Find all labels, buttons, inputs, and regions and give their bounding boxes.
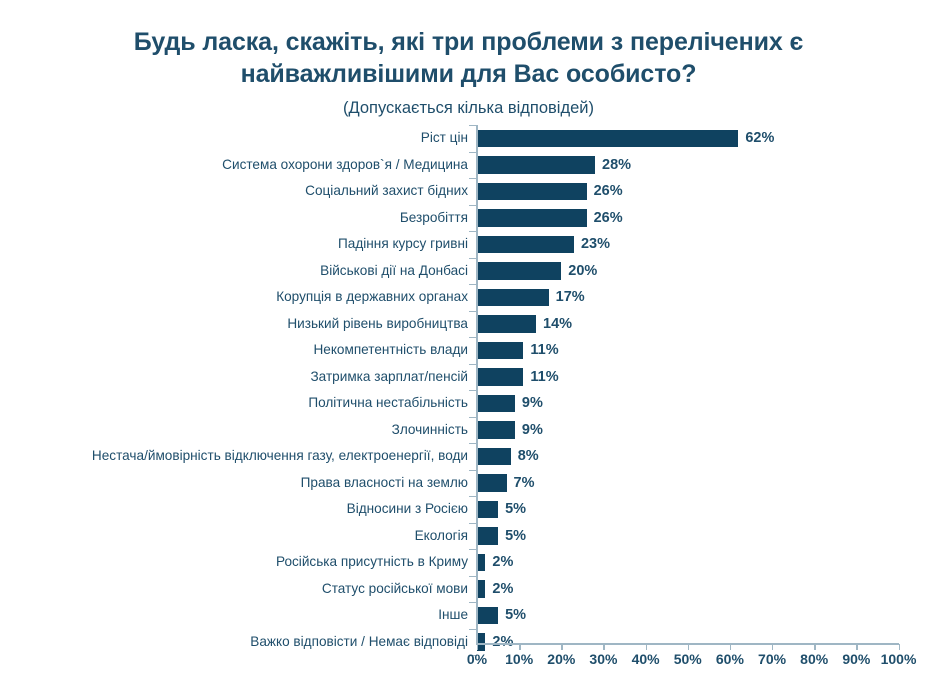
x-axis-tick [561,644,562,650]
value-label: 2% [492,555,513,570]
category-label: Соціальний захист бідних [3,184,468,198]
x-axis-tick [477,644,478,650]
category-label: Падіння курсу гривні [3,237,468,251]
y-axis-tick [469,258,476,259]
value-label: 8% [518,449,539,464]
bar-row: Нестача/ймовірність відключення газу, ел… [0,443,937,470]
value-label: 62% [745,131,774,146]
value-label: 9% [522,396,543,411]
bar-with-value: 11% [477,368,559,386]
bar-row: Інше5% [0,602,937,629]
x-axis-tick [730,644,731,650]
y-axis-tick [469,364,476,365]
category-label: Система охорони здоров`я / Медицина [3,158,468,172]
y-axis-tick [469,311,476,312]
bar-with-value: 2% [477,633,513,651]
category-label: Інше [3,608,468,622]
bar [477,580,485,598]
bar-row: Некомпетентність влади11% [0,337,937,364]
x-axis-tick-label: 30% [589,652,617,666]
bar [477,501,498,519]
y-axis-tick [469,576,476,577]
y-axis-tick [469,125,476,126]
y-axis-tick [469,523,476,524]
y-axis-tick [469,178,476,179]
category-label: Нестача/ймовірність відключення газу, ел… [3,449,468,463]
bar-row: Російська присутність в Криму2% [0,549,937,576]
y-axis-tick [469,629,476,630]
bar-row: Статус російської мови2% [0,576,937,603]
plot-area: Ріст цін62%Система охорони здоров`я / Ме… [0,125,937,643]
bar-with-value: 20% [477,262,597,280]
y-axis-tick [469,390,476,391]
value-label: 14% [543,317,572,332]
bar-with-value: 26% [477,183,623,201]
bar-with-value: 2% [477,554,513,572]
value-label: 28% [602,158,631,173]
category-label: Статус російської мови [3,582,468,596]
bar-with-value: 5% [477,607,526,625]
x-axis-tick-label: 70% [758,652,786,666]
bar-with-value: 62% [477,130,774,148]
x-axis-tick-label: 20% [547,652,575,666]
bar [477,289,549,307]
y-axis-tick [469,602,476,603]
bar [477,554,485,572]
category-label: Некомпетентність влади [3,343,468,357]
x-axis-tick-label: 0% [467,652,487,666]
bar-row: Злочинність9% [0,417,937,444]
chart-subtitle: (Допускається кілька відповідей) [0,99,937,118]
y-axis-tick [469,496,476,497]
value-label: 7% [514,476,535,491]
category-label: Корупція в державних органах [3,290,468,304]
bar-row: Ріст цін62% [0,125,937,152]
bar-row: Система охорони здоров`я / Медицина28% [0,152,937,179]
bar-row: Падіння курсу гривні23% [0,231,937,258]
bar [477,527,498,545]
bar-with-value: 11% [477,342,559,360]
bar [477,315,536,333]
x-axis-tick [646,644,647,650]
chart-title: Будь ласка, скажіть, які три проблеми з … [0,26,937,90]
x-axis-tick [856,644,857,650]
value-label: 9% [522,423,543,438]
x-axis-tick [772,644,773,650]
y-axis-tick [469,417,476,418]
chart-header: Будь ласка, скажіть, які три проблеми з … [0,26,937,118]
value-label: 11% [530,370,558,385]
bar [477,209,587,227]
value-label: 5% [505,608,526,623]
bar [477,342,523,360]
value-label: 23% [581,237,610,252]
value-label: 26% [594,184,623,199]
bar-with-value: 2% [477,580,513,598]
y-axis-tick [469,443,476,444]
value-label: 5% [505,529,526,544]
bar-with-value: 26% [477,209,623,227]
bar-with-value: 5% [477,501,526,519]
bar-with-value: 9% [477,421,543,439]
value-label: 11% [530,343,558,358]
value-label: 17% [556,290,585,305]
category-label: Російська присутність в Криму [3,555,468,569]
value-label: 5% [505,502,526,517]
category-label: Екологія [3,529,468,543]
bar [477,395,515,413]
x-axis-tick-label: 90% [842,652,870,666]
bar [477,368,523,386]
bar-with-value: 14% [477,315,572,333]
bar [477,607,498,625]
y-axis-tick [469,152,476,153]
x-axis-tick-label: 100% [881,652,917,666]
bar-row: Екологія5% [0,523,937,550]
bar-row: Військові дії на Донбасі20% [0,258,937,285]
value-label: 20% [568,264,597,279]
bar-row: Корупція в державних органах17% [0,284,937,311]
bar [477,236,574,254]
bar-row: Права власності на землю7% [0,470,937,497]
x-axis-tick [519,644,520,650]
bar-chart: Будь ласка, скажіть, які три проблеми з … [0,0,937,675]
bar-with-value: 9% [477,395,543,413]
bar-with-value: 28% [477,156,631,174]
x-axis-tick [814,644,815,650]
x-axis-tick-label: 80% [800,652,828,666]
y-axis-line [476,125,478,644]
x-axis-tick [899,644,900,650]
y-axis-tick [469,284,476,285]
bar [477,130,738,148]
x-axis-tick-label: 40% [632,652,660,666]
category-label: Важко відповісти / Немає відповіді [3,635,468,649]
category-label: Безробіття [3,211,468,225]
x-axis-tick-label: 60% [716,652,744,666]
bar-row: Відносини з Росією5% [0,496,937,523]
value-label: 2% [492,635,513,650]
bar-row: Політична нестабільність9% [0,390,937,417]
x-axis-tick [688,644,689,650]
category-label: Затримка зарплат/пенсій [3,370,468,384]
category-label: Відносини з Росією [3,502,468,516]
bar-with-value: 17% [477,289,585,307]
bar-row: Низький рівень виробництва14% [0,311,937,338]
bar [477,474,507,492]
x-axis-tick-label: 10% [505,652,533,666]
bar-with-value: 5% [477,527,526,545]
category-label: Військові дії на Донбасі [3,264,468,278]
category-label: Злочинність [3,423,468,437]
bar-row: Соціальний захист бідних26% [0,178,937,205]
x-axis-tick [603,644,604,650]
category-label: Права власності на землю [3,476,468,490]
bar-with-value: 7% [477,474,534,492]
x-axis-tick-label: 50% [674,652,702,666]
bar-with-value: 8% [477,448,539,466]
bar [477,262,561,280]
bar [477,183,587,201]
y-axis-tick [469,231,476,232]
bar-row: Затримка зарплат/пенсій11% [0,364,937,391]
y-axis-tick [469,205,476,206]
category-label: Політична нестабільність [3,396,468,410]
bar [477,448,511,466]
y-axis-tick [469,337,476,338]
category-label: Низький рівень виробництва [3,317,468,331]
value-label: 26% [594,211,623,226]
bar [477,156,595,174]
y-axis-tick [469,549,476,550]
bar [477,421,515,439]
y-axis-tick [469,470,476,471]
category-label: Ріст цін [3,131,468,145]
bar-with-value: 23% [477,236,610,254]
value-label: 2% [492,582,513,597]
bar-row: Безробіття26% [0,205,937,232]
